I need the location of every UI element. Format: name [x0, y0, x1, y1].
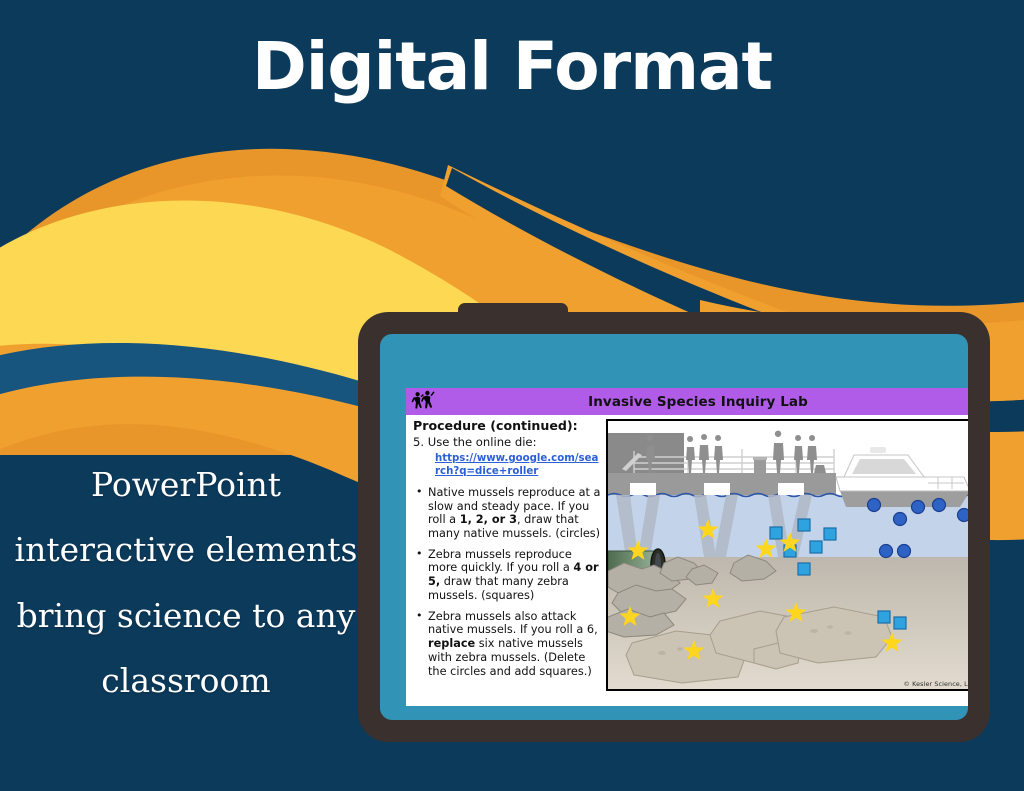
caption-text: PowerPoint interactive elements bring sc… — [8, 452, 364, 713]
tablet-screen: Invasive Species Inquiry Lab Procedure (… — [380, 334, 968, 720]
presentation-slide[interactable]: Invasive Species Inquiry Lab Procedure (… — [406, 388, 968, 706]
two-running-figures-icon — [411, 389, 437, 414]
page-title: Digital Format — [0, 28, 1024, 105]
procedure-step: 5. Use the online die: — [413, 435, 603, 450]
step-number: 5. — [413, 435, 424, 449]
procedure-bullet-list: Native mussels reproduce at a slow and s… — [413, 486, 603, 678]
poster-canvas: Digital Format PowerPoint interactive el… — [0, 0, 1024, 791]
pier-and-underwater-habitat-illustration: © Kesler Science, LLC — [606, 419, 968, 691]
slide-header-bar: Invasive Species Inquiry Lab — [406, 388, 968, 415]
procedure-bullet: Native mussels reproduce at a slow and s… — [413, 486, 603, 541]
tablet-device: Invasive Species Inquiry Lab Procedure (… — [358, 312, 990, 742]
slide-body: Procedure (continued): 5. Use the online… — [406, 415, 968, 706]
copyright-notice: © Kesler Science, LLC — [904, 680, 968, 688]
procedure-bullet: Zebra mussels also attack native mussels… — [413, 610, 603, 679]
step-text: Use the online die: — [428, 435, 537, 449]
procedure-column: Procedure (continued): 5. Use the online… — [413, 418, 603, 685]
dice-roller-link[interactable]: https://www.google.com/search?q=dice+rol… — [435, 452, 603, 478]
procedure-bullet: Zebra mussels reproduce more quickly. If… — [413, 548, 603, 603]
procedure-heading: Procedure (continued): — [413, 418, 603, 434]
slide-title: Invasive Species Inquiry Lab — [406, 394, 968, 410]
